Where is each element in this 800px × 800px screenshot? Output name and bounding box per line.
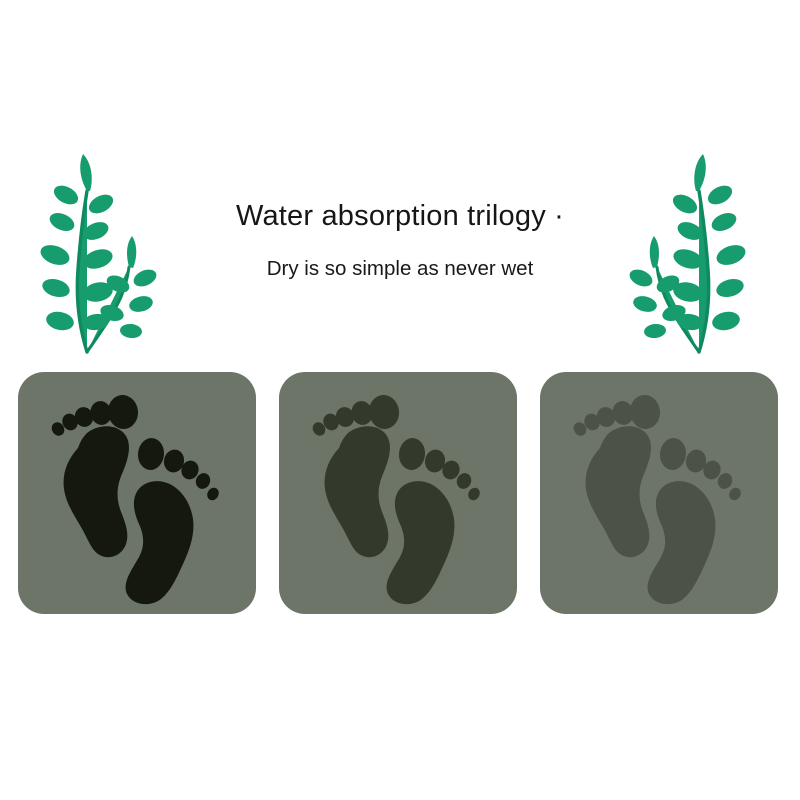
footprint-pair-icon (571, 393, 743, 604)
leaf-sprig-group (627, 154, 748, 352)
footprint-panel-row (18, 372, 778, 614)
footprint-pair-icon (49, 393, 221, 604)
footprint-panel-1 (18, 372, 256, 614)
leafy-sprig-right-decoration (618, 145, 748, 360)
leaf-sprig-group (38, 154, 159, 352)
footprint-panel-2 (279, 372, 517, 614)
background-watermark-text: FOOTPRINT (398, 258, 534, 284)
leafy-sprig-left-decoration (38, 145, 168, 360)
footprint-pair-icon (310, 393, 482, 604)
footprint-panel-3 (540, 372, 778, 614)
